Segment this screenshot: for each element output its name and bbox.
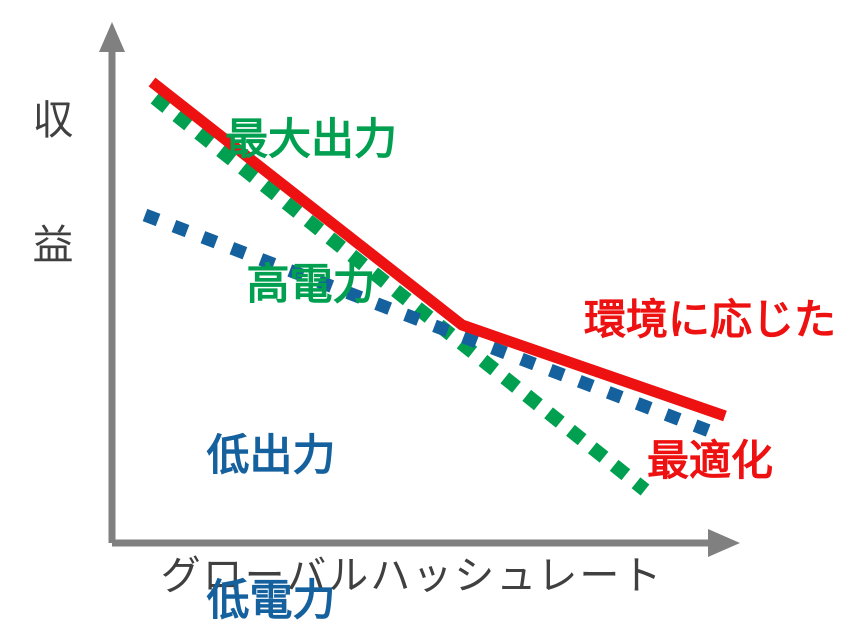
annotation-low-output-low-power: 低出力 低電力: [166, 336, 376, 629]
annotation-line-2: 低電力: [166, 577, 376, 625]
y-axis: [99, 22, 125, 543]
y-axis-title-char-1: 収: [24, 100, 82, 142]
annotation-environment-adaptive-optimization: 環境に応じた 最適化: [565, 202, 855, 578]
annotation-line-2: 高電力: [196, 261, 426, 309]
annotation-line-1: 環境に応じた: [565, 296, 855, 343]
y-axis-title-char-2: 益: [24, 225, 82, 267]
y-axis-title: 収 益: [24, 16, 82, 351]
y-axis-arrowhead-icon: [99, 22, 125, 52]
annotation-line-1: 低出力: [166, 432, 376, 480]
annotation-line-1: 最大出力: [196, 116, 426, 164]
chart-canvas: 収 益 グローバルハッシュレート 最大出力 高電力 環境に応じた 最適化 低出力…: [0, 0, 868, 629]
annotation-line-2: 最適化: [565, 437, 855, 484]
